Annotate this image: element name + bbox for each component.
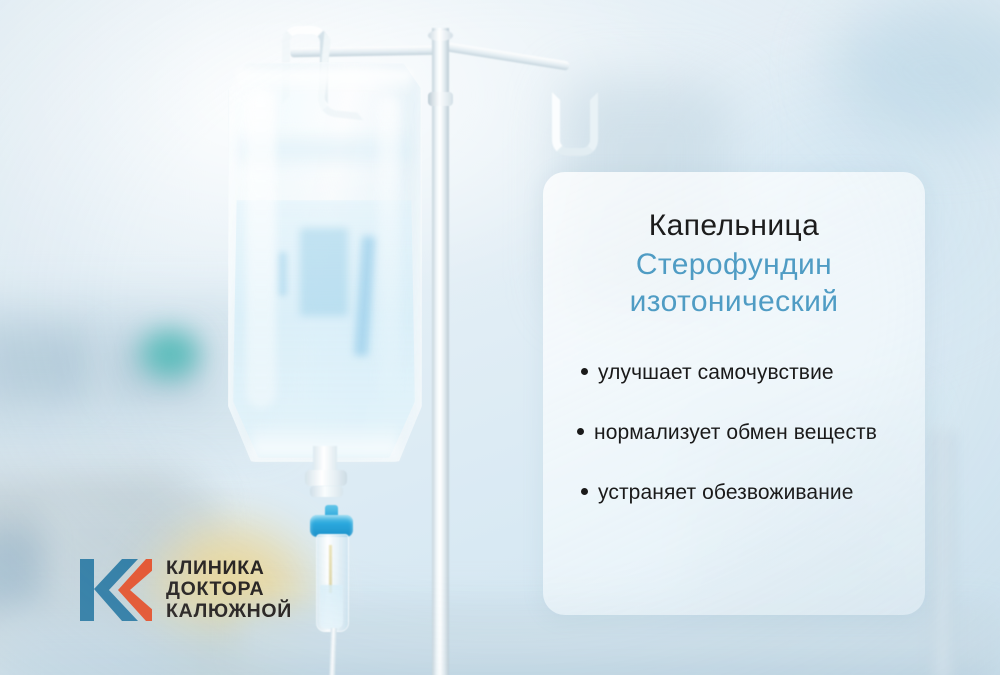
product-title-line-1: Капельница	[569, 208, 899, 243]
iv-hook-right-icon	[552, 92, 598, 156]
list-item: нормализует обмен веществ	[571, 419, 897, 447]
benefit-text: устраняет обезвоживание	[598, 481, 854, 504]
product-title-line-2: Стерофундин	[569, 247, 899, 284]
iv-drip-chamber-fluid	[320, 585, 343, 629]
clinic-logo-line-3: КАЛЮЖНОЙ	[166, 601, 292, 622]
benefit-text: улучшает самочувствие	[598, 361, 834, 384]
clinic-logo-line-2: ДОКТОРА	[166, 579, 292, 600]
clinic-logo-text: КЛИНИКА ДОКТОРА КАЛЮЖНОЙ	[166, 558, 292, 621]
iv-bag-highlight-right	[378, 96, 400, 396]
clinic-logo-line-1: КЛИНИКА	[166, 558, 292, 579]
iv-stand-pole-cap	[428, 30, 453, 41]
list-item: устраняет обезвоживание	[571, 479, 897, 507]
list-item: улучшает самочувствие	[571, 359, 897, 387]
benefit-text: нормализует обмен веществ	[594, 421, 877, 444]
iv-stand-pole	[432, 28, 449, 675]
iv-stand-pole-collar	[428, 92, 453, 106]
iv-spike-ring	[310, 486, 343, 497]
iv-spike-collar	[305, 470, 347, 486]
iv-bag-highlight-left	[246, 88, 276, 408]
clinic-logo[interactable]: КЛИНИКА ДОКТОРА КАЛЮЖНОЙ	[78, 553, 292, 627]
product-title-line-3: изотонический	[569, 284, 899, 321]
info-card-content: Капельница Стерофундин изотонический улу…	[543, 172, 925, 615]
bullet-dot-icon	[581, 488, 588, 495]
benefits-list: улучшает самочувствие нормализует обмен …	[569, 359, 899, 507]
banner-canvas: Капельница Стерофундин изотонический улу…	[0, 0, 1000, 675]
iv-bag-label-mark	[278, 252, 287, 296]
bullet-dot-icon	[581, 368, 588, 375]
iv-bag-label	[300, 228, 348, 316]
bullet-dot-icon	[577, 428, 584, 435]
double-k-chevron-logo-icon	[78, 553, 152, 627]
info-card: Капельница Стерофундин изотонический улу…	[543, 172, 925, 615]
